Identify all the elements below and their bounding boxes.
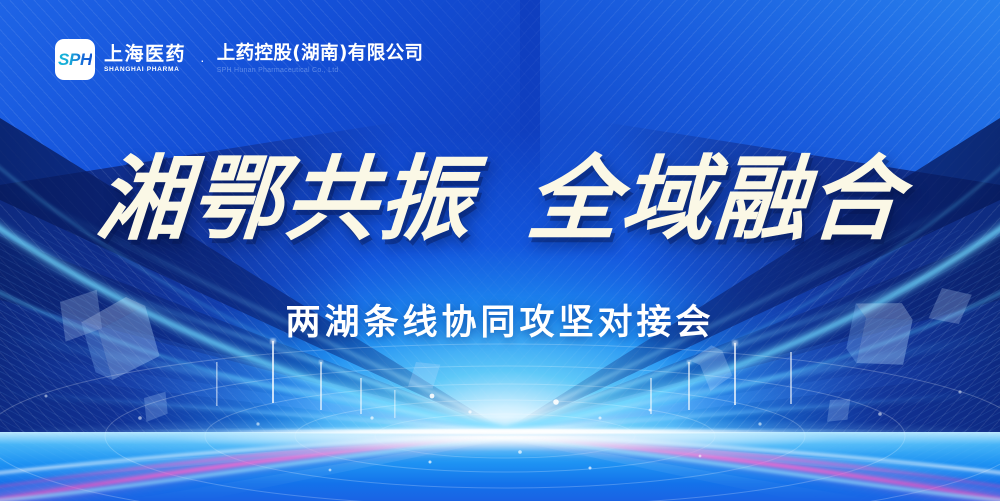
ground-texture-left [0,230,500,501]
subsidiary-name-en: SPH Hunan Pharmaceutical Co., Ltd [217,67,424,74]
company-logo-lockup: SPH 上海医药 SHANGHAI PHARMA · 上药控股(湖南)有限公司 … [55,39,423,80]
subsidiary-name-block: 上药控股(湖南)有限公司 SPH Hunan Pharmaceutical Co… [217,45,424,75]
brand-name-en: SHANGHAI PHARMA [104,67,188,74]
brand-name-block: 上海医药 SHANGHAI PHARMA [104,45,186,74]
banner-canvas: SPH 上海医药 SHANGHAI PHARMA · 上药控股(湖南)有限公司 … [0,0,1000,501]
brand-name-cn: 上海医药 [104,45,186,64]
sph-logo-mark: SPH [55,39,95,80]
subsidiary-name-cn: 上药控股(湖南)有限公司 [217,45,424,64]
ground-texture-right [500,230,1000,501]
logo-separator-dot: · [200,52,205,68]
sph-logo-text: SPH [58,50,92,70]
